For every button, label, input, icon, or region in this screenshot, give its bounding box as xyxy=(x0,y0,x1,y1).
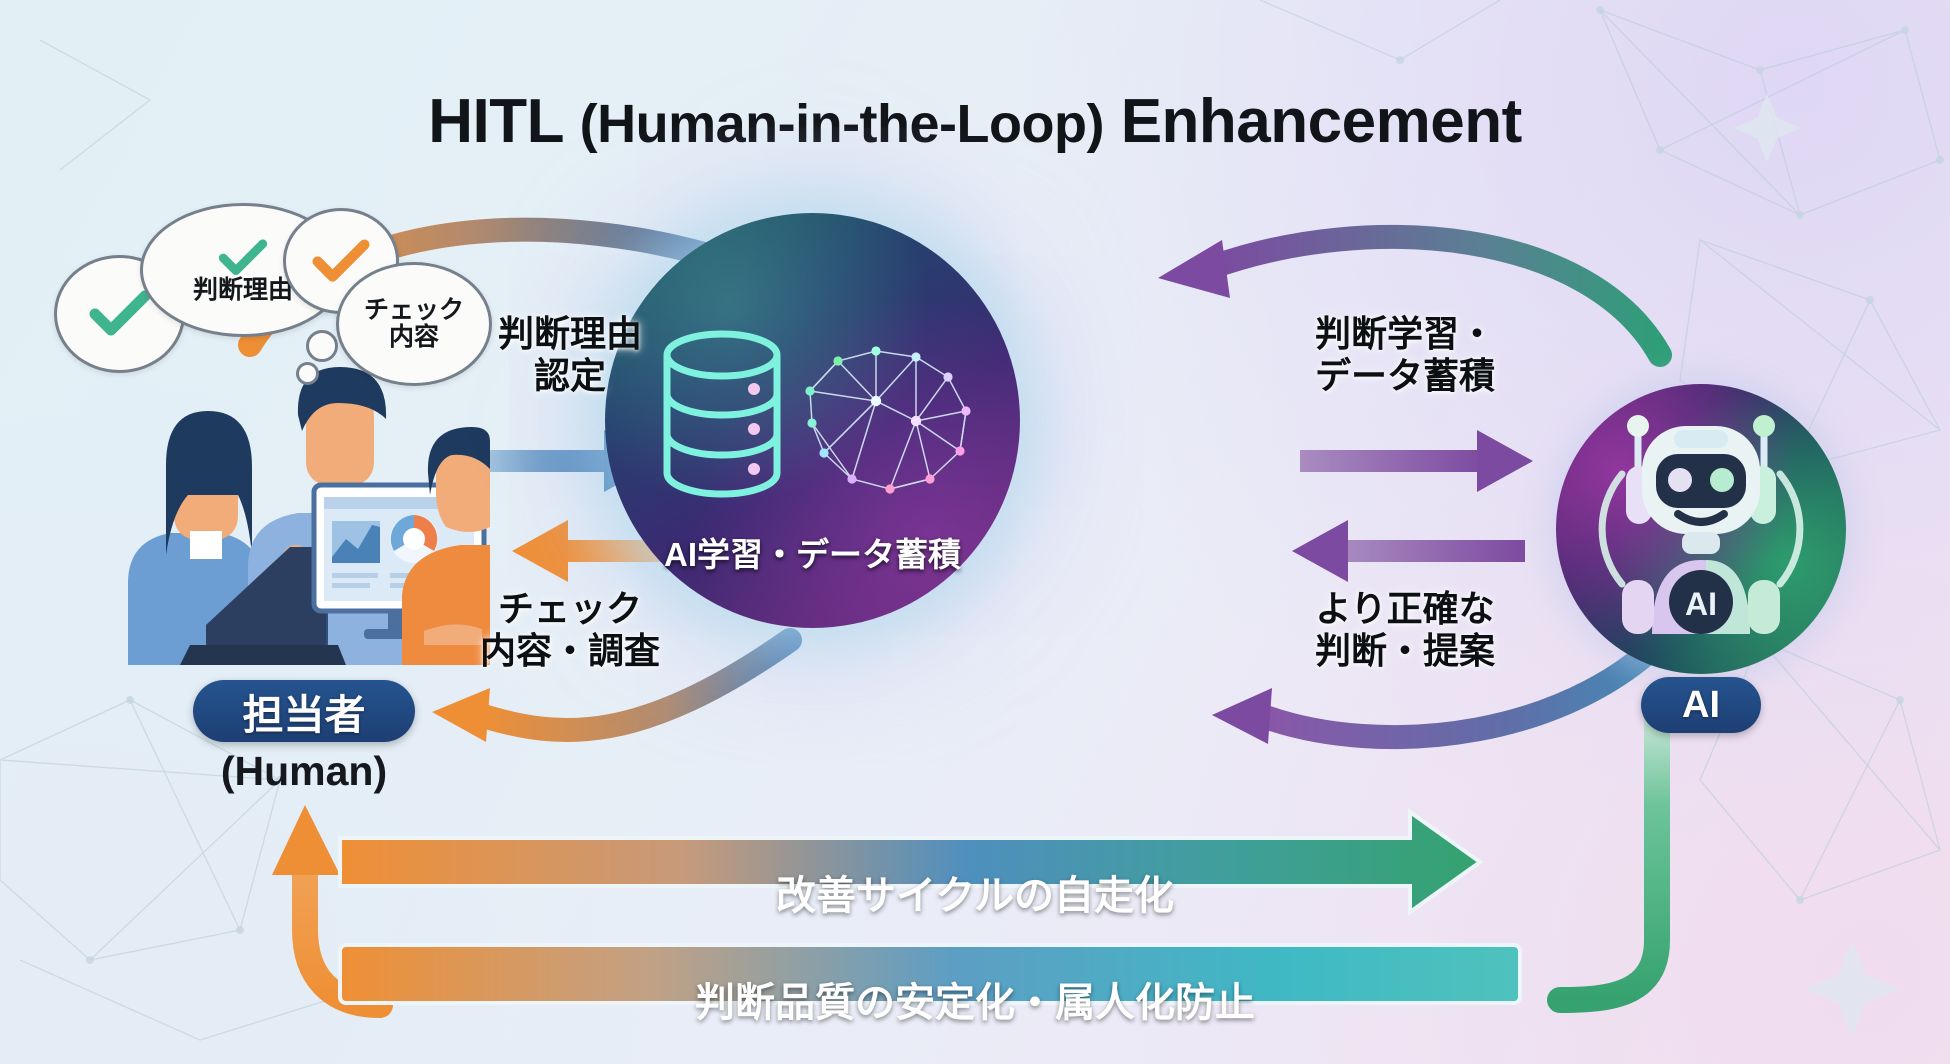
flow-label-line1: 判断理由 xyxy=(455,313,685,355)
arrow-ai-to-center-straight xyxy=(1300,430,1533,492)
check-icon xyxy=(217,239,269,277)
neural-brain-icon xyxy=(790,313,985,518)
ai-badge-label: AI xyxy=(1682,684,1720,727)
ai-core-label: AI学習・データ蓄積 xyxy=(605,528,1020,576)
robot-avatar-icon[interactable]: AI xyxy=(1556,384,1846,674)
ai-knowledge-core[interactable]: AI学習・データ蓄積 xyxy=(605,213,1020,628)
flow-label-line2: データ蓄積 xyxy=(1280,355,1530,397)
bubble-label: チェック 内容 xyxy=(364,297,464,352)
hitl-diagram-canvas: HITL (Human-in-the-Loop) Enhancement xyxy=(0,0,1950,1064)
flow-label-ai-to-center: 判断学習・ データ蓄積 xyxy=(1280,313,1530,398)
bubble-tail-dot-large xyxy=(306,330,338,362)
human-badge[interactable]: 担当者 xyxy=(193,680,415,742)
human-badge-sublabel: (Human) xyxy=(193,748,415,795)
arrow-center-to-ai-straight xyxy=(1292,520,1525,582)
ai-badge[interactable]: AI xyxy=(1641,677,1761,733)
flow-label-line2: 認定 xyxy=(455,355,685,397)
flow-label-human-to-center: 判断理由 認定 xyxy=(455,313,685,398)
flow-label-line1: チェック xyxy=(455,588,685,630)
flow-label-line2: 内容・調査 xyxy=(455,630,685,672)
bubble-label: 判断理由 xyxy=(193,277,293,305)
flow-label-center-to-ai: より正確な 判断・提案 xyxy=(1280,588,1530,673)
flow-label-line2: 判断・提案 xyxy=(1280,630,1530,672)
bottom-bar-label-2: 判断品質の安定化・属人化防止 xyxy=(430,970,1520,1028)
bottom-bar-label-1: 改善サイクルの自走化 xyxy=(430,863,1520,921)
flow-label-center-to-human: チェック 内容・調査 xyxy=(455,588,685,673)
flow-label-line1: 判断学習・ xyxy=(1280,313,1530,355)
check-icon xyxy=(89,290,151,338)
flow-label-line1: より正確な xyxy=(1280,588,1530,630)
team-at-computer-illustration xyxy=(70,345,490,665)
human-badge-label: 担当者 xyxy=(243,681,366,741)
bubble-tail-dot-small xyxy=(296,362,319,385)
svg-text:AI: AI xyxy=(1685,586,1717,622)
